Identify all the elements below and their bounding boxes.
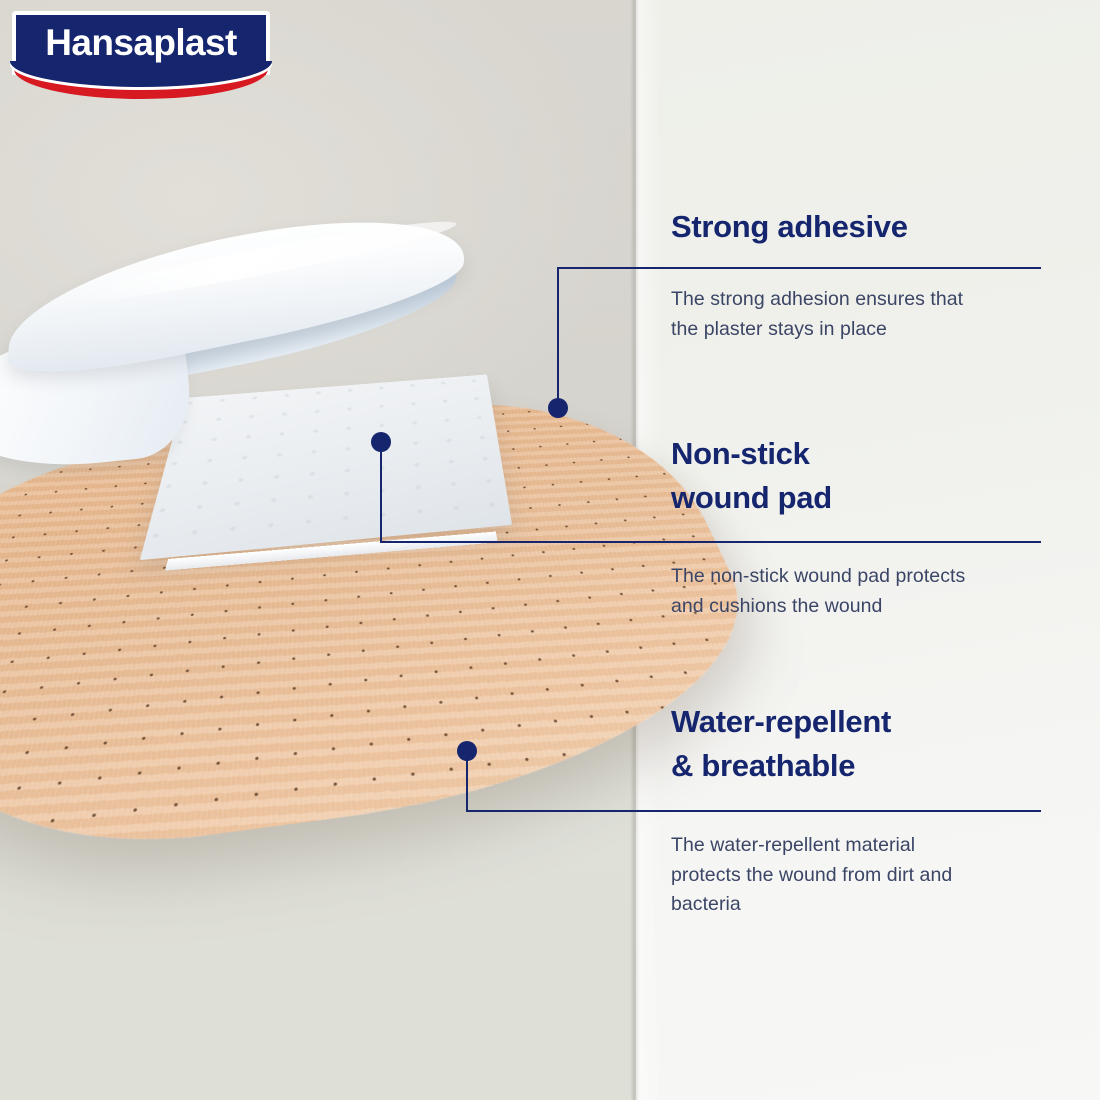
callout-line-horizontal-strong-adhesive xyxy=(557,267,1041,269)
feature-heading-wound-pad-line-1: Non-stick xyxy=(671,432,1043,476)
feature-body-line-2: protects the wound from dirt and xyxy=(671,861,1043,891)
feature-body-line-2: and cushions the wound xyxy=(671,592,1043,622)
product-image xyxy=(0,225,700,845)
feature-body-wound-pad: The non-stick wound pad protects and cus… xyxy=(671,562,1043,621)
callout-line-horizontal-wound-pad xyxy=(380,541,1041,543)
feature-heading-wound-pad-line-2: wound pad xyxy=(671,476,1043,520)
feature-heading-water-repellent-line-2: & breathable xyxy=(671,744,1043,788)
callout-line-horizontal-water-repellent xyxy=(466,810,1041,812)
feature-wound-pad: Non-stick wound pad xyxy=(671,432,1043,520)
feature-body-line-2: the plaster stays in place xyxy=(671,315,1043,345)
feature-body-line-3: bacteria xyxy=(671,890,1043,920)
feature-strong-adhesive: Strong adhesive xyxy=(671,205,1043,249)
hansaplast-logo: Hansaplast xyxy=(12,11,270,97)
feature-body-strong-adhesive: The strong adhesion ensures that the pla… xyxy=(671,285,1043,344)
feature-water-repellent: Water-repellent & breathable xyxy=(671,700,1043,788)
feature-body-line-1: The strong adhesion ensures that xyxy=(671,285,1043,315)
callout-line-vertical-water-repellent xyxy=(466,750,468,812)
callout-line-vertical-strong-adhesive xyxy=(557,267,559,407)
feature-heading-strong-adhesive: Strong adhesive xyxy=(671,205,1043,249)
feature-body-line-1: The non-stick wound pad protects xyxy=(671,562,1043,592)
feature-body-water-repellent: The water-repellent material protects th… xyxy=(671,831,1043,920)
callout-line-vertical-wound-pad xyxy=(380,441,382,543)
infographic-canvas: Hansaplast Strong adhesive The strong ad… xyxy=(0,0,1100,1100)
feature-heading-water-repellent-line-1: Water-repellent xyxy=(671,700,1043,744)
logo-wordmark: Hansaplast xyxy=(12,11,270,75)
feature-body-line-1: The water-repellent material xyxy=(671,831,1043,861)
